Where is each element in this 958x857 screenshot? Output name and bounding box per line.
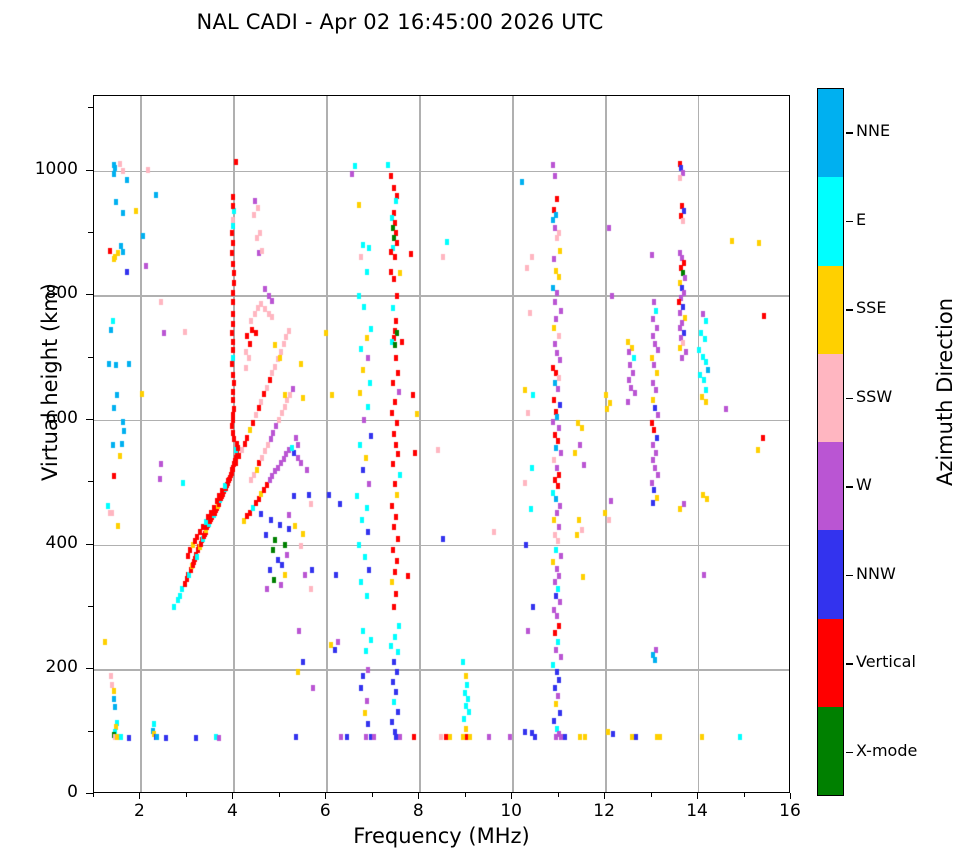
colorbar-label-nne: NNE — [856, 121, 890, 140]
colorbar-label-nnw: NNW — [856, 564, 896, 583]
x-axis-tick-label: 16 — [760, 801, 820, 821]
y-axis-tick — [86, 170, 93, 171]
y-axis-tick-minor — [88, 606, 93, 607]
y-axis-tick-minor — [88, 481, 93, 482]
page-title: NAL CADI - Apr 02 16:45:00 2026 UTC — [0, 10, 800, 34]
x-axis-tick — [697, 793, 698, 799]
x-axis-tick — [139, 793, 140, 799]
x-axis-tick-minor — [651, 793, 652, 797]
x-axis-tick — [604, 793, 605, 799]
x-axis-tick — [511, 793, 512, 799]
colorbar-segment-nnw — [818, 530, 843, 618]
colorbar-label-vertical: Vertical — [856, 652, 916, 671]
colorbar-label-ssw: SSW — [856, 387, 892, 406]
colorbar — [817, 88, 844, 796]
y-axis-tick-minor — [88, 232, 93, 233]
x-axis-tick-label: 2 — [109, 801, 169, 821]
y-axis-tick — [86, 544, 93, 545]
y-axis-tick-minor — [88, 107, 93, 108]
colorbar-segment-nne — [818, 89, 843, 177]
colorbar-tick — [846, 752, 853, 753]
x-axis-tick — [232, 793, 233, 799]
colorbar-segment-e — [818, 177, 843, 265]
x-axis-tick-label: 12 — [574, 801, 634, 821]
colorbar-label-sse: SSE — [856, 298, 886, 317]
x-axis-tick-label: 10 — [481, 801, 541, 821]
y-axis-tick-label: 0 — [0, 782, 78, 802]
colorbar-tick — [846, 132, 853, 133]
y-axis-title: Virtual height (km) — [38, 232, 62, 532]
x-axis-tick-minor — [93, 793, 94, 797]
x-axis-tick — [325, 793, 326, 799]
colorbar-tick — [846, 663, 853, 664]
x-axis-tick-label: 4 — [202, 801, 262, 821]
colorbar-label-x-mode: X-mode — [856, 741, 917, 760]
y-axis-tick — [86, 793, 93, 794]
x-axis-tick-minor — [558, 793, 559, 797]
x-axis-tick-label: 8 — [388, 801, 448, 821]
y-axis-tick — [86, 419, 93, 420]
colorbar-segment-vertical — [818, 619, 843, 707]
y-axis-tick-minor — [88, 357, 93, 358]
ionogram-plot-area — [93, 95, 790, 793]
y-axis-tick-minor — [88, 731, 93, 732]
x-axis-tick-label: 14 — [667, 801, 727, 821]
colorbar-label-w: W — [856, 475, 872, 494]
colorbar-segment-sse — [818, 266, 843, 354]
colorbar-tick — [846, 221, 853, 222]
x-axis-tick-minor — [465, 793, 466, 797]
colorbar-tick — [846, 309, 853, 310]
colorbar-tick — [846, 486, 853, 487]
colorbar-title: Azimuth Direction — [933, 242, 957, 542]
colorbar-segment-ssw — [818, 354, 843, 442]
y-axis-tick-label: 200 — [0, 657, 78, 677]
x-axis-tick-minor — [744, 793, 745, 797]
x-axis-tick-minor — [279, 793, 280, 797]
colorbar-tick — [846, 398, 853, 399]
x-axis-title: Frequency (MHz) — [93, 824, 790, 848]
x-axis-tick — [418, 793, 419, 799]
y-axis-tick — [86, 668, 93, 669]
colorbar-segment-x-mode — [818, 707, 843, 795]
y-axis-tick — [86, 294, 93, 295]
y-axis-tick-label: 1000 — [0, 159, 78, 179]
colorbar-label-e: E — [856, 210, 866, 229]
colorbar-tick — [846, 575, 853, 576]
x-axis-tick-minor — [186, 793, 187, 797]
x-axis-tick-label: 6 — [295, 801, 355, 821]
ionogram-canvas — [94, 96, 789, 792]
colorbar-segment-w — [818, 442, 843, 530]
x-axis-tick-minor — [372, 793, 373, 797]
x-axis-tick — [790, 793, 791, 799]
ionogram-scatter-layer — [94, 96, 789, 792]
y-axis-tick-label: 400 — [0, 533, 78, 553]
